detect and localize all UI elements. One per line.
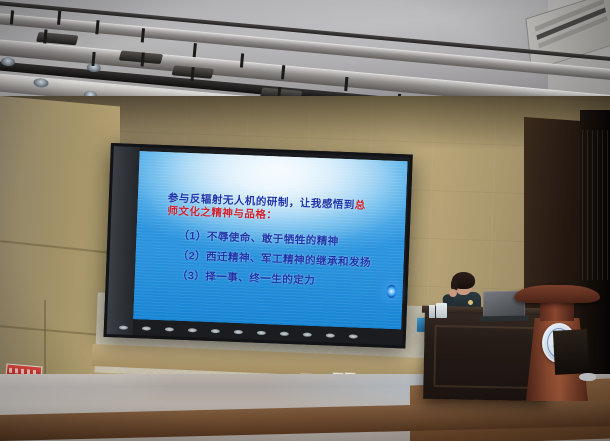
auditorium-photo: 参与反辐射无人机的研制，让我感悟到总 师文化之精神与品格： （1）不辱使命、敢于… — [0, 0, 610, 441]
speaker-hand — [449, 289, 457, 297]
stage-light — [81, 63, 102, 96]
shoe — [579, 373, 596, 381]
screen-scanlines — [133, 151, 407, 329]
led-screen[interactable]: 参与反辐射无人机的研制，让我感悟到总 师文化之精神与品格： （1）不辱使命、敢于… — [104, 143, 413, 348]
lectern-column — [540, 301, 574, 321]
background-chair — [553, 329, 589, 375]
lectern-top — [514, 285, 600, 303]
speaker-hair — [452, 272, 475, 289]
stage-light — [264, 76, 299, 94]
screen-surface[interactable]: 参与反辐射无人机的研制，让我感悟到总 师文化之精神与品格： （1）不辱使命、敢于… — [133, 151, 407, 329]
stage-light — [0, 22, 21, 64]
stage-light — [30, 41, 56, 85]
curtain-folds — [582, 130, 608, 280]
water-cups — [436, 303, 447, 318]
speaker-badge — [468, 300, 473, 305]
